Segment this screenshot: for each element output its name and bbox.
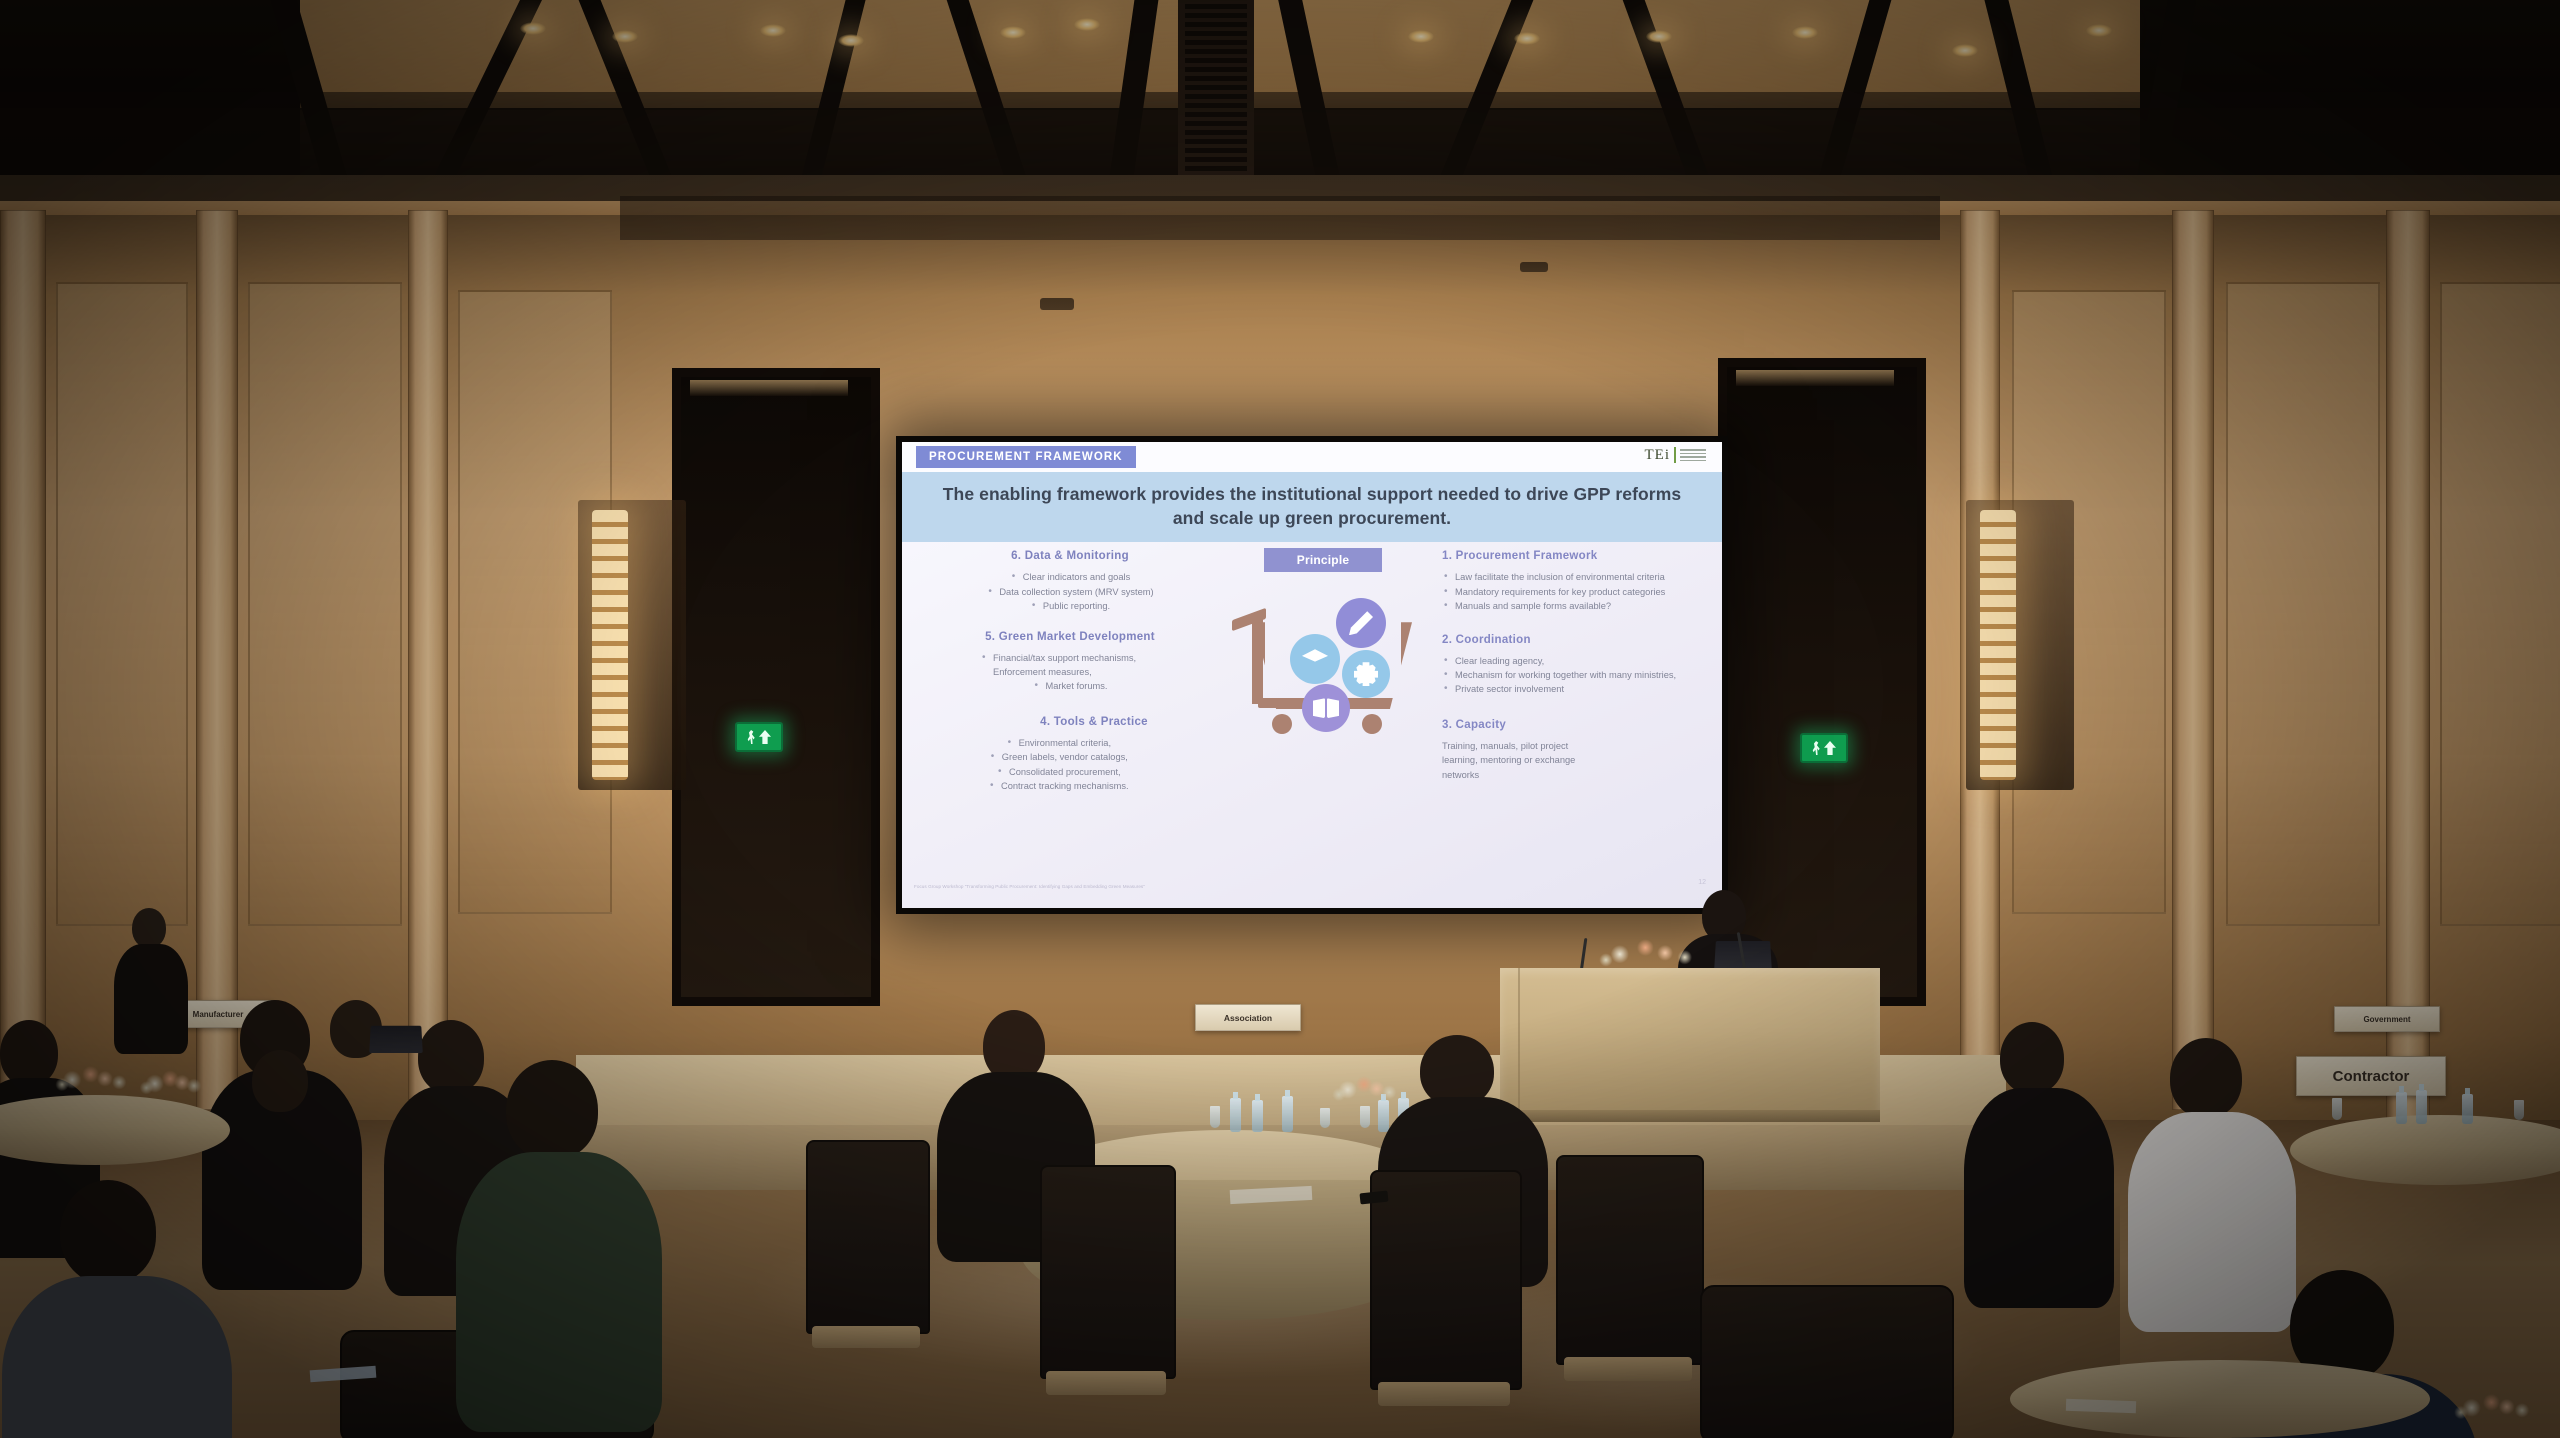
slide-footer: Focus Group Workshop "Transforming Publi… bbox=[914, 884, 1145, 889]
right-column: 1. Procurement Framework Law facilitate … bbox=[1442, 550, 1692, 799]
table-flowers-left bbox=[52, 1060, 136, 1096]
cart-body bbox=[1232, 592, 1422, 742]
running-person-icon bbox=[747, 730, 756, 744]
bullet: Environmental criteria, bbox=[1006, 736, 1112, 750]
wall-sconce-left bbox=[592, 510, 628, 780]
section-heading: 5. Green Market Development bbox=[920, 631, 1220, 643]
exit-sign-right bbox=[1800, 733, 1848, 763]
section-data-monitoring: 6. Data & Monitoring Clear indicators an… bbox=[920, 550, 1220, 613]
section-procurement-framework: 1. Procurement Framework Law facilitate … bbox=[1442, 550, 1692, 613]
section-coordination: 2. Coordination Clear leading agency, Me… bbox=[1442, 634, 1692, 697]
cart-wheel bbox=[1362, 714, 1382, 734]
tent-card-label: Manufacturer bbox=[193, 1010, 244, 1019]
projection-screen: PROCUREMENT FRAMEWORK TEi The enabling f… bbox=[896, 436, 1728, 914]
tei-logo: TEi bbox=[1645, 447, 1707, 464]
paper-document bbox=[2066, 1399, 2136, 1413]
section-heading: 4. Tools & Practice bbox=[968, 716, 1220, 728]
slide-kicker: PROCUREMENT FRAMEWORK bbox=[916, 446, 1136, 468]
slide-banner: The enabling framework provides the inst… bbox=[902, 472, 1722, 542]
wall-sconce-right bbox=[1980, 510, 2016, 780]
tei-wordmark: TEi bbox=[1645, 447, 1671, 464]
tent-card-label: Contractor bbox=[2333, 1068, 2410, 1085]
bullet: Public reporting. bbox=[1030, 599, 1110, 613]
table-flowers-center bbox=[1330, 1070, 1404, 1106]
bullet: Mandatory requirements for key product c… bbox=[1442, 585, 1692, 599]
drinking-glass bbox=[2332, 1098, 2342, 1120]
attendee-laptop bbox=[369, 1026, 423, 1053]
section-capacity: 3. Capacity Training, manuals, pilot pro… bbox=[1442, 719, 1692, 782]
section-bullets: Environmental criteria, Green labels, ve… bbox=[988, 736, 1129, 794]
doorway-left bbox=[672, 368, 880, 1006]
slide-header: PROCUREMENT FRAMEWORK TEi bbox=[902, 442, 1722, 472]
section-paragraph: Training, manuals, pilot project learnin… bbox=[1442, 739, 1592, 782]
drinking-glass bbox=[2514, 1100, 2524, 1120]
bullet: Financial/tax support mechanisms, Enforc… bbox=[980, 651, 1160, 680]
bullet: Private sector involvement bbox=[1442, 682, 1692, 696]
running-person-icon bbox=[1812, 741, 1821, 755]
water-bottle bbox=[2396, 1092, 2407, 1124]
up-arrow-icon bbox=[1824, 741, 1836, 755]
exit-sign-left bbox=[735, 722, 783, 752]
bullet: Contract tracking mechanisms. bbox=[988, 779, 1129, 793]
drinking-glass bbox=[1360, 1106, 1370, 1128]
principle-badge: Principle bbox=[1264, 548, 1382, 572]
presentation-slide: PROCUREMENT FRAMEWORK TEi The enabling f… bbox=[902, 442, 1722, 908]
bullet: Manuals and sample forms available? bbox=[1442, 599, 1692, 613]
open-book-icon bbox=[1302, 684, 1350, 732]
water-bottle bbox=[1252, 1100, 1263, 1132]
water-bottle bbox=[1282, 1096, 1293, 1132]
cart-wheel bbox=[1272, 714, 1292, 734]
section-heading: 1. Procurement Framework bbox=[1442, 550, 1692, 562]
pencil-icon bbox=[1336, 598, 1386, 648]
tent-card-association: Association bbox=[1195, 1004, 1301, 1031]
water-bottle bbox=[1230, 1098, 1241, 1132]
left-column: 6. Data & Monitoring Clear indicators an… bbox=[920, 550, 1220, 810]
section-heading: 6. Data & Monitoring bbox=[920, 550, 1220, 562]
tent-card-government: Government bbox=[2334, 1006, 2440, 1032]
bullet: Consolidated procurement, bbox=[996, 765, 1121, 779]
bullet: Clear indicators and goals bbox=[1010, 570, 1131, 584]
section-bullets: Law facilitate the inclusion of environm… bbox=[1442, 570, 1692, 613]
section-bullets: Clear leading agency, Mechanism for work… bbox=[1442, 654, 1692, 697]
conference-room-scene: PROCUREMENT FRAMEWORK TEi The enabling f… bbox=[0, 0, 2560, 1438]
slide-body: 6. Data & Monitoring Clear indicators an… bbox=[902, 542, 1722, 894]
up-arrow-icon bbox=[759, 730, 771, 744]
section-tools-practice: 4. Tools & Practice Environmental criter… bbox=[920, 716, 1220, 794]
bullet: Market forums. bbox=[1033, 679, 1108, 693]
puzzle-piece-icon bbox=[1342, 650, 1390, 698]
bullet: Mechanism for working together with many… bbox=[1442, 668, 1692, 682]
doorway-right bbox=[1718, 358, 1926, 1006]
section-bullets: Clear indicators and goals Data collecti… bbox=[986, 570, 1153, 613]
slide-page-number: 12 bbox=[1698, 879, 1706, 886]
head-table bbox=[1500, 968, 1880, 1118]
table-flowers-right bbox=[2450, 1388, 2540, 1424]
bullet: Green labels, vendor catalogs, bbox=[989, 750, 1128, 764]
section-green-market: 5. Green Market Development Financial/ta… bbox=[920, 631, 1220, 694]
bullet: Clear leading agency, bbox=[1442, 654, 1692, 668]
section-bullets: Financial/tax support mechanisms, Enforc… bbox=[980, 651, 1160, 694]
section-heading: 3. Capacity bbox=[1442, 719, 1692, 731]
bullet: Data collection system (MRV system) bbox=[986, 585, 1153, 599]
bullet: Law facilitate the inclusion of environm… bbox=[1442, 570, 1692, 584]
tent-card-label: Association bbox=[1224, 1013, 1272, 1023]
drinking-glass bbox=[1210, 1106, 1220, 1128]
drinking-glass bbox=[1320, 1108, 1330, 1128]
table-flowers-left-2 bbox=[138, 1066, 208, 1098]
tent-card-label: Government bbox=[2363, 1015, 2410, 1024]
shopping-cart-graphic: Principle bbox=[1232, 548, 1422, 788]
section-heading: 2. Coordination bbox=[1442, 634, 1692, 646]
head-table-skirt-edge bbox=[1500, 1110, 1880, 1122]
water-bottle bbox=[2416, 1090, 2427, 1124]
tei-accent-bar bbox=[1674, 447, 1676, 463]
water-bottle bbox=[2462, 1094, 2473, 1124]
graduation-cap-icon bbox=[1290, 634, 1340, 684]
slide-title: The enabling framework provides the inst… bbox=[942, 482, 1682, 530]
tei-subtext bbox=[1680, 447, 1706, 461]
